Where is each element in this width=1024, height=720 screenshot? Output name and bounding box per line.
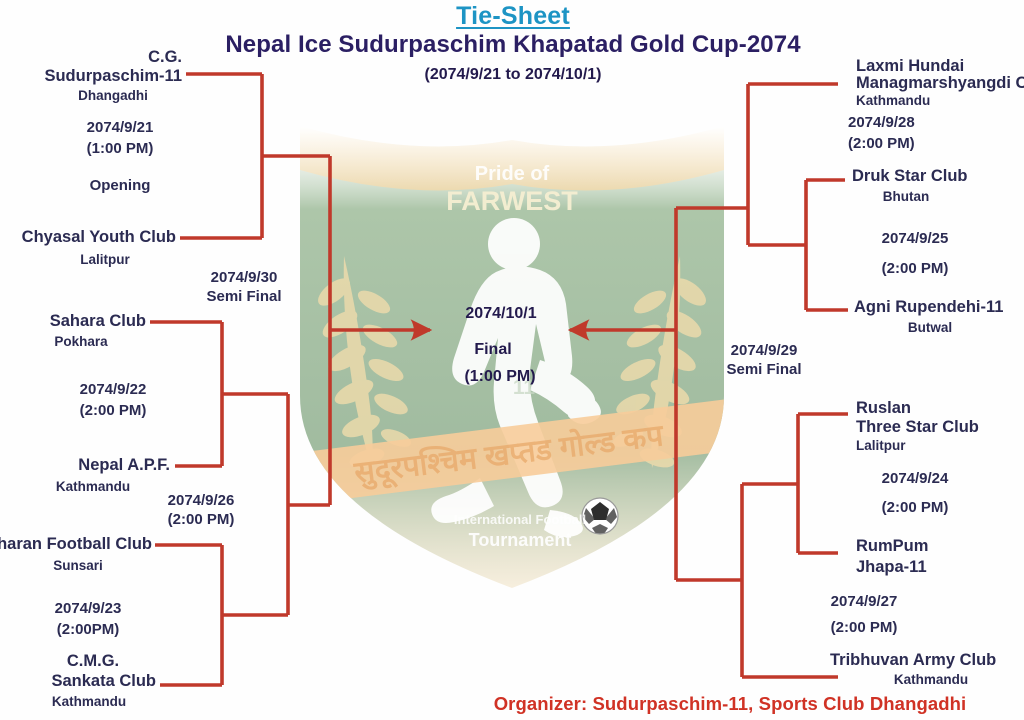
left-semifinal-label: Semi Final (206, 289, 281, 306)
match-time-right-qf1: (2:00 PM) (848, 136, 915, 153)
team-name-right-qf3-top-line2: Three Star Club (856, 418, 979, 436)
final-date: 2074/10/1 (465, 305, 536, 323)
left-second-round-time: (2:00 PM) (168, 512, 235, 529)
team-name-left-qf1-top-line1: C.G. (148, 48, 182, 66)
left-semifinal-date: 2074/9/30 (211, 270, 278, 287)
team-name-left-qf1-bottom-line1: Chyasal Youth Club (22, 228, 176, 246)
match-date-right-qf1: 2074/9/28 (848, 115, 915, 132)
team-name-left-qf3-top-line1: Dharan Football Club (0, 535, 152, 553)
team-city-left-qf3-bottom: Kathmandu (52, 694, 126, 709)
team-name-right-qf1-top-line2: Managmarshyangdi Club (856, 74, 1024, 92)
team-city-right-qf3-top: Lalitpur (856, 438, 906, 453)
team-name-right-qf3-bottom-line1: RumPum (856, 537, 928, 555)
team-name-right-qf3-top-line1: Ruslan (856, 399, 911, 417)
match-time-left-qf2: (2:00 PM) (80, 403, 147, 420)
match-time-left-qf3: (2:00PM) (57, 622, 120, 639)
final-time: (1:00 PM) (464, 368, 535, 386)
match-date-left-qf3: 2074/9/23 (55, 601, 122, 618)
match-time-right-qf3: (2:00 PM) (882, 500, 949, 517)
match-time-right-qf4: (2:00 PM) (831, 620, 898, 637)
organizer-footer: Organizer: Sudurpaschim-11, Sports Club … (494, 694, 967, 715)
team-name-left-qf3-bottom-line1: C.M.G. (67, 652, 119, 670)
team-name-right-qf2-bottom-line1: Agni Rupendehi-11 (854, 298, 1003, 316)
match-date-left-qf1: 2074/9/21 (87, 120, 154, 137)
match-time-left-qf1: (1:00 PM) (87, 141, 154, 158)
match-date-left-qf2: 2074/9/22 (80, 382, 147, 399)
team-city-right-qf1-bottom: Bhutan (883, 189, 930, 204)
final-label: Final (474, 341, 511, 359)
team-name-left-qf3-bottom-line2: Sankata Club (51, 672, 156, 690)
team-city-right-qf2-bottom: Butwal (908, 320, 952, 335)
match-date-right-qf4: 2074/9/27 (831, 594, 898, 611)
team-city-left-qf2-bottom: Kathmandu (56, 479, 130, 494)
right-semifinal-date: 2074/9/29 (731, 343, 798, 360)
team-name-left-qf2-top-line1: Sahara Club (50, 312, 146, 330)
team-city-left-qf3-top: Sunsari (53, 558, 103, 573)
tie-sheet-heading: Tie-Sheet (456, 2, 570, 30)
team-city-right-qf1-top: Kathmandu (856, 93, 930, 108)
team-city-left-qf1-bottom: Lalitpur (80, 252, 130, 267)
team-city-right-qf3-bottom: Jhapa-11 (856, 558, 927, 576)
team-name-left-qf2-bottom-line1: Nepal A.P.F. (78, 456, 170, 474)
match-note-left-qf1: Opening (90, 178, 151, 195)
team-name-right-qf1-bottom-line1: Druk Star Club (852, 167, 968, 185)
tie-sheet-page: 11 Pride of FARWES (0, 0, 1024, 720)
team-name-left-qf1-top-line2: Sudurpaschim-11 (44, 67, 182, 85)
match-time-right-qf2: (2:00 PM) (882, 261, 949, 278)
team-city-left-qf1-top: Dhangadhi (78, 88, 148, 103)
right-semifinal-label: Semi Final (726, 362, 801, 379)
team-city-left-qf2-top: Pokhara (54, 334, 107, 349)
match-date-right-qf3: 2074/9/24 (882, 471, 949, 488)
team-name-right-qf4-bottom-line1: Tribhuvan Army Club (830, 651, 996, 669)
left-second-round-date: 2074/9/26 (168, 493, 235, 510)
team-name-right-qf1-top-line1: Laxmi Hundai (856, 57, 964, 75)
team-city-right-qf4-bottom: Kathmandu (894, 672, 968, 687)
tournament-date-range: (2074/9/21 to 2074/10/1) (424, 66, 601, 84)
match-date-right-qf2: 2074/9/25 (882, 231, 949, 248)
page-title: Nepal Ice Sudurpaschim Khapatad Gold Cup… (225, 32, 800, 59)
